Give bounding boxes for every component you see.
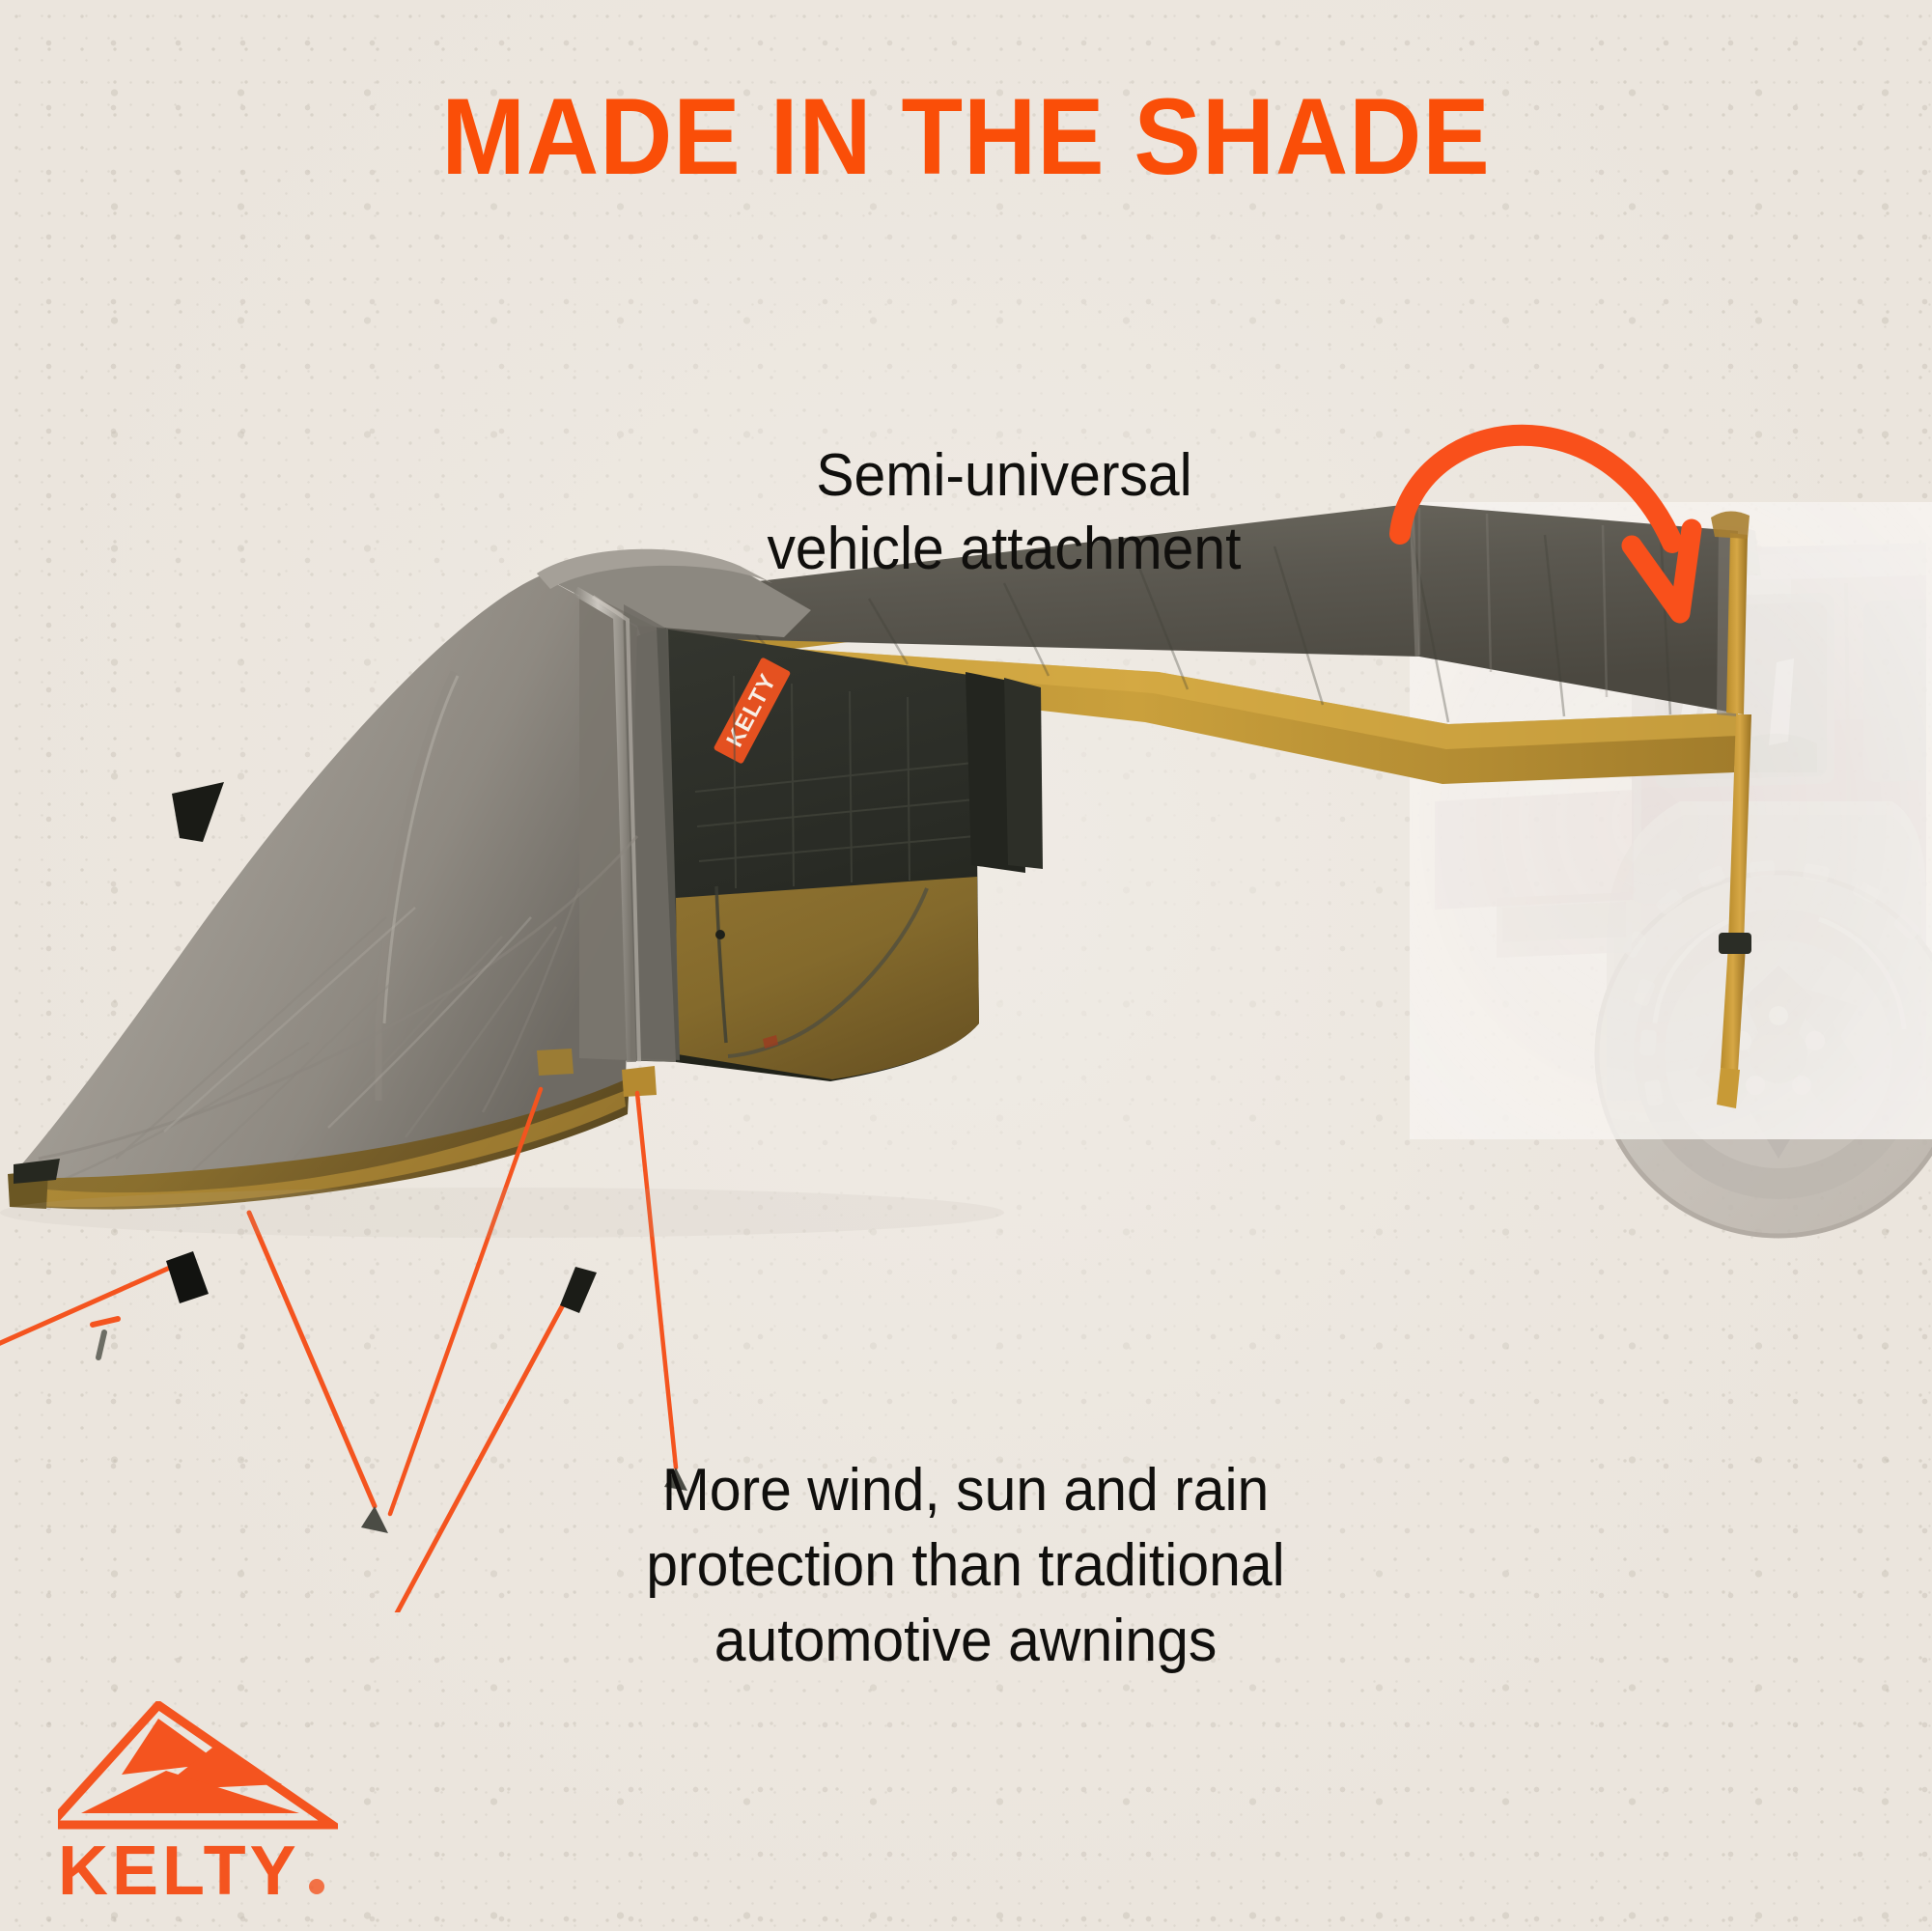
callout-semi-universal: Semi-universal vehicle attachment [656,439,1353,587]
callout-top-line-2: vehicle attachment [656,513,1353,586]
callout-bottom-line-3: automotive awnings [489,1604,1442,1679]
registered-mark [309,1879,324,1894]
product-photo: KELTY [0,483,1932,1612]
kelty-wordmark: KELTY [58,1833,300,1909]
poster-canvas: KELTY [0,0,1932,1931]
callout-protection: More wind, sun and rain protection than … [489,1453,1442,1679]
kelty-logo: KELTY [58,1701,338,1909]
callout-bottom-line-1: More wind, sun and rain [489,1453,1442,1528]
tent: KELTY [8,549,1043,1210]
callout-top-line-1: Semi-universal [656,439,1353,513]
curved-arrow-icon [1352,406,1738,628]
page-title: MADE IN THE SHADE [68,83,1864,191]
callout-bottom-line-2: protection than traditional [489,1528,1442,1604]
